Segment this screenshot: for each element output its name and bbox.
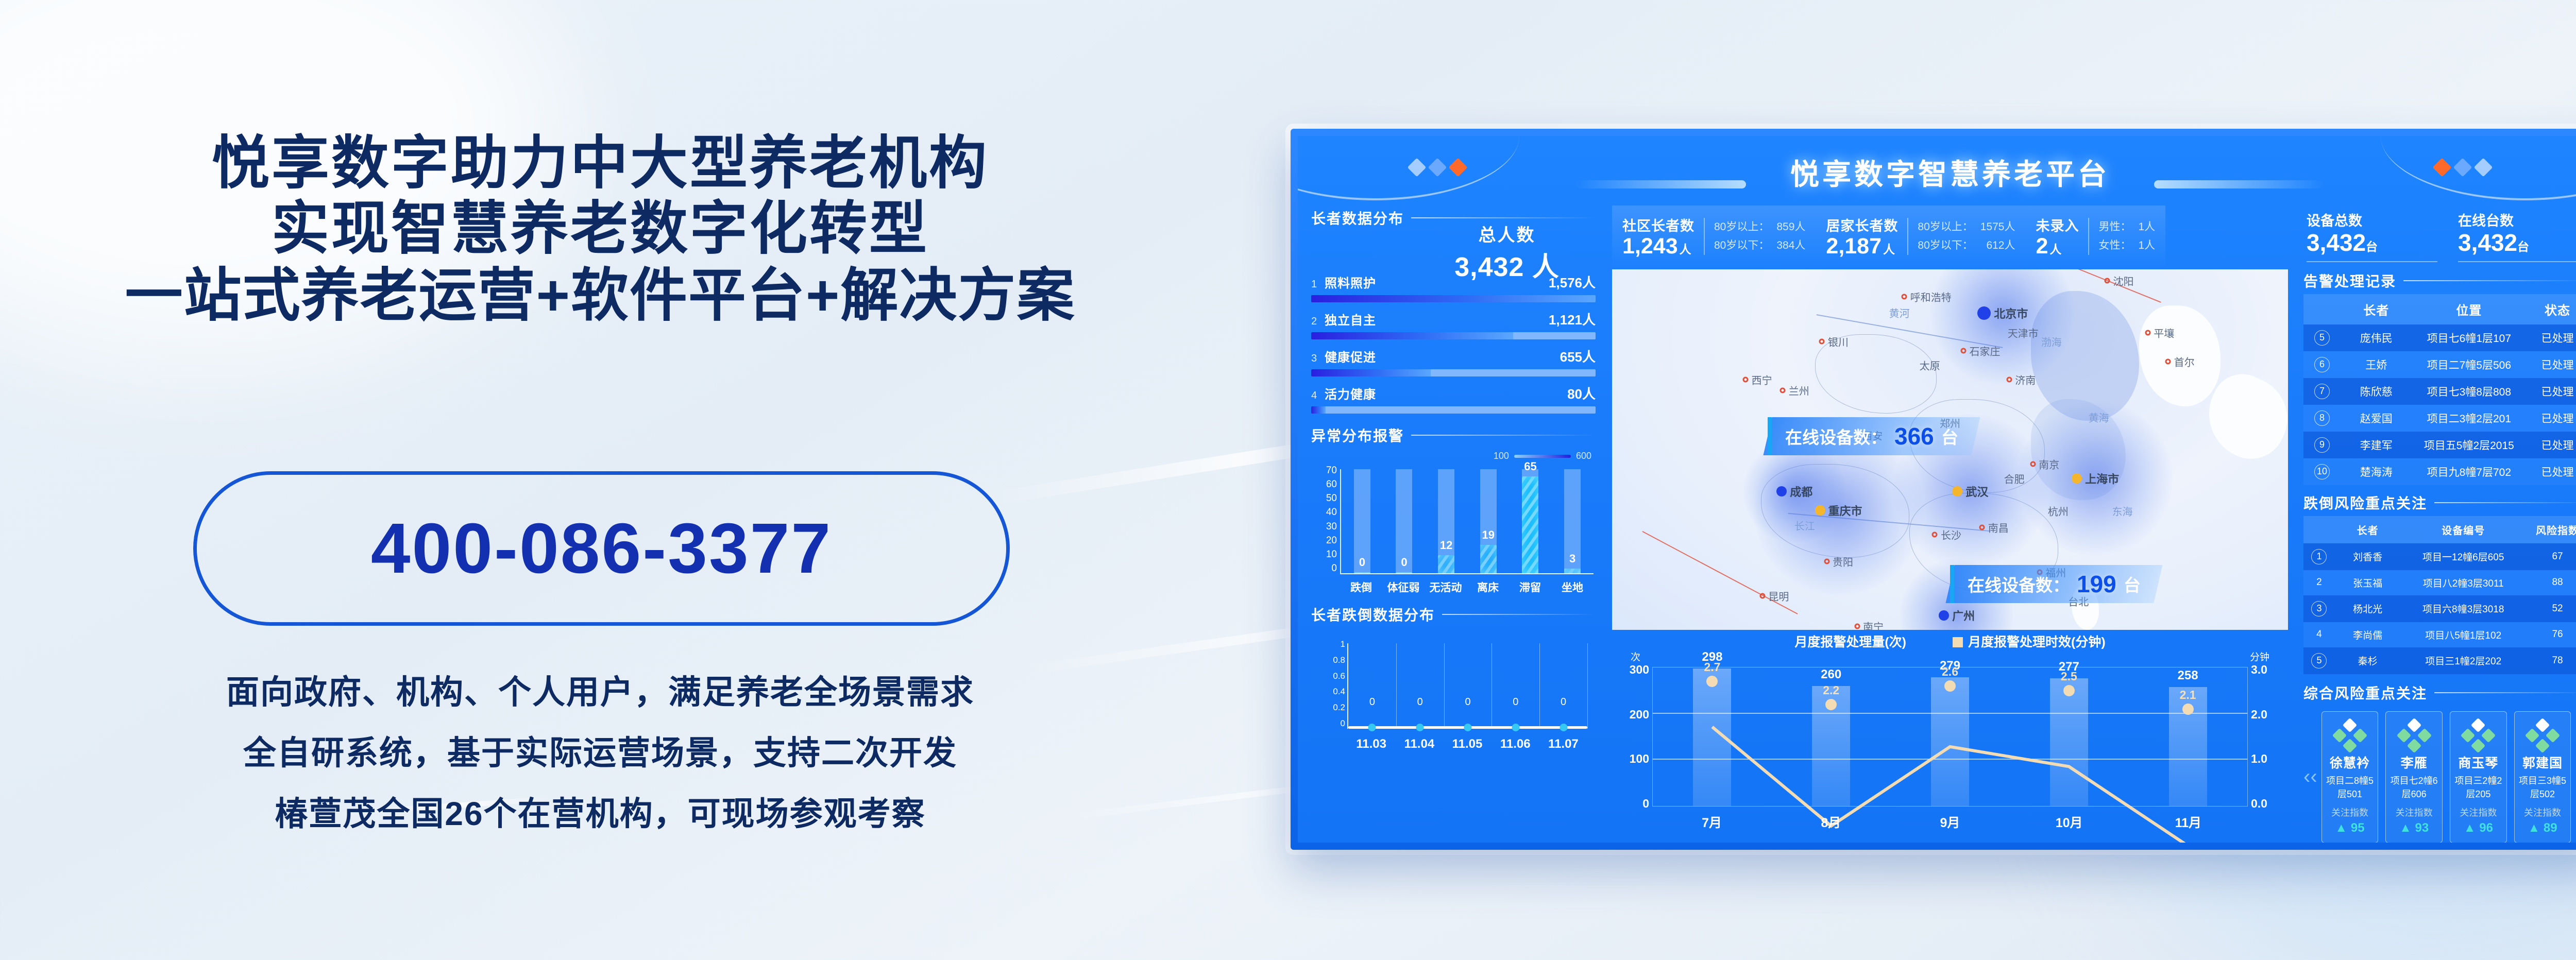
phone-number: 400-086-3377 [371, 508, 832, 590]
cell-elder: 楚海涛 [2341, 458, 2412, 485]
marketing-column: 悦享数字助力中大型养老机构 实现智慧养老数字化转型 一站式养老运营+软件平台+解… [0, 0, 1206, 960]
stat-unit: 人 [1680, 243, 1691, 256]
headline-line-1: 悦享数字助力中大型养老机构 [0, 131, 1200, 195]
xtick: 11.03 [1347, 737, 1395, 751]
data-point[interactable] [2063, 685, 2075, 696]
map-city[interactable]: 呼和浩特 [1902, 289, 1952, 304]
alarm-records-table[interactable]: 长者 位置 状态 5庞伟民项目七6幢1层107已处理6王娇项目二7幢5层506已… [2303, 294, 2576, 485]
cell-elder: 李建军 [2341, 432, 2412, 458]
map-pin-icon [1780, 387, 1786, 393]
map-city[interactable]: 济南 [2006, 372, 2036, 387]
stat-unit: 人 [2049, 243, 2061, 256]
sub-key: 80岁以上： [1918, 218, 1973, 236]
device-stat-label: 在线台数 [2458, 210, 2576, 230]
risk-card-name: 商玉琴 [2452, 753, 2504, 772]
stat-label: 未录入 [2036, 215, 2079, 235]
risk-card[interactable]: 李雁项目七2幢6层606关注指数▲ 93 [2385, 711, 2443, 843]
col-risk-score: 风险指数 [2526, 516, 2576, 543]
monthly-plot-area: 2982602792772582.72.22.62.52.1 [1652, 667, 2248, 807]
ytick: 40 [1326, 507, 1337, 518]
xtick: 11.05 [1443, 737, 1491, 751]
map-city[interactable]: 北京市 [1977, 305, 2028, 321]
map-city[interactable]: 长江 [1794, 518, 1815, 533]
map-city-label: 长江 [1794, 518, 1815, 533]
map-city[interactable]: 昆明 [1759, 588, 1789, 603]
map-city[interactable]: 沈阳 [2105, 273, 2134, 288]
map-city[interactable]: 首尔 [2165, 354, 2195, 369]
data-point[interactable] [1825, 699, 1837, 710]
ytick: 200 [1630, 708, 1649, 722]
cell-index: 5 [2303, 324, 2341, 351]
table-row[interactable]: 5庞伟民项目七6幢1层107已处理 [2303, 324, 2576, 351]
stat-value: 1,243 [1622, 234, 1678, 259]
map-city-label: 呼和浩特 [1910, 289, 1952, 304]
legend-swatch-icon [1953, 637, 1963, 647]
cell-elder: 李尚儒 [2335, 622, 2400, 647]
map-pin-icon [2165, 358, 2171, 364]
table-row[interactable]: 8赵爱国项目二3幢2层201已处理 [2303, 405, 2576, 432]
map-online-device-badge[interactable]: 在线设备数：366台 [1763, 417, 1980, 455]
device-stat-unit: 台 [2517, 240, 2529, 253]
risk-card-location: 项目三3幢5层502 [2517, 774, 2569, 800]
cell-index: 7 [2303, 378, 2341, 405]
fall-distribution-chart: 1 0.8 0.6 0.4 0.2 0 00000 11.03 11.0 [1311, 627, 1596, 756]
monthly-x-ticks: 7月 8月 9月 10月 11月 [1652, 813, 2248, 831]
risk-card-score-label: 关注指数 [2324, 805, 2376, 819]
ytick: 3.0 [2251, 663, 2267, 677]
fall-distribution-panel: 长者跌倒数据分布 1 0.8 0.6 0.4 0.2 0 00000 [1311, 604, 1596, 756]
abnormal-bar-column[interactable]: 12 [1436, 469, 1456, 573]
dashboard-body: 长者数据分布 总人数 3,432 人 1 照料照护 1,576人 [1298, 200, 2576, 843]
map-city-label: 石家庄 [1970, 343, 2001, 358]
sub-key: 女性： [2098, 236, 2131, 255]
abnormal-bar-column[interactable]: 3 [1562, 469, 1583, 573]
map-city-label: 成都 [1790, 483, 1812, 500]
fall-risk-table[interactable]: 长者 设备编号 风险指数 1刘香香项目一12幢6层605672张玉福项目八2幢3… [2303, 516, 2576, 674]
stat-unregistered[interactable]: 未录入 2人 男性：1人 女性：1人 [2025, 205, 2165, 267]
sub-val: 859人 [1776, 218, 1805, 236]
abnormal-bar-column[interactable]: 65 [1520, 469, 1540, 573]
map-water-label: 黄河 [1889, 305, 1910, 320]
data-label: 2.5 [2061, 670, 2077, 683]
map-water-label: 东海 [2112, 504, 2133, 519]
stat-unit: 人 [1883, 243, 1895, 256]
abnormal-bar-column[interactable]: 19 [1478, 469, 1499, 573]
map-city-label: 长沙 [1941, 527, 1961, 542]
dashboard-title: 悦享数字智慧养老平台 [1298, 151, 2576, 193]
map-pin-icon [2145, 330, 2150, 335]
map-hub-dot-icon [1977, 306, 1991, 320]
map-city-label: 合肥 [2004, 471, 2025, 486]
legend-min: 100 [1494, 451, 1509, 461]
cell-device-id: 项目一12幢6层605 [2400, 543, 2526, 570]
monthly-right-ticks: 3.0 2.0 1.0 0.0 [2251, 663, 2282, 811]
map-city[interactable]: 武汉 [1952, 483, 1988, 500]
map-city[interactable]: 银川 [1819, 334, 1849, 349]
map-pin-icon [1902, 294, 1907, 299]
stat-label: 居家长者数 [1826, 215, 1898, 235]
data-label: 2.6 [1942, 665, 1958, 679]
monthly-left-ticks: 300 200 100 0 [1618, 663, 1649, 811]
dist-bar-track [1311, 369, 1596, 376]
stat-online-devices[interactable]: 在线台数 3,432台 [2458, 210, 2576, 262]
legend-item-efficiency: 月度报警处理时效(分钟) [1953, 632, 2106, 650]
map-city[interactable]: 兰州 [1780, 383, 1809, 398]
fall-x-ticks: 11.03 11.04 11.05 11.06 11.07 [1347, 737, 1587, 751]
cell-location: 项目二3幢2层201 [2412, 405, 2527, 432]
map-city[interactable]: 石家庄 [1961, 343, 2001, 358]
map-badge-unit: 台 [2124, 572, 2141, 596]
monthly-right-unit: 分钟 [2250, 649, 2269, 663]
risk-card-name: 李雁 [2388, 753, 2440, 772]
stat-home-elders[interactable]: 居家长者数 2,187人 80岁以上：1575人 80岁以下：612人 [1816, 205, 2025, 267]
sub-val: 1人 [2138, 236, 2155, 255]
dist-index: 3 [1311, 353, 1325, 365]
fall-plot-area: 00000 [1347, 643, 1587, 729]
ytick: 0.2 [1333, 702, 1345, 713]
map-city-label: 平壤 [2154, 325, 2174, 340]
risk-card-location: 项目七2幢6层606 [2388, 774, 2440, 800]
map-city[interactable]: 南昌 [1979, 520, 2009, 535]
dashboard-header: 悦享数字智慧养老平台 [1298, 136, 2576, 200]
dist-value: 1,121人 [1549, 310, 1596, 329]
map-badge-value: 366 [1894, 422, 1934, 450]
map-city-label: 沈阳 [2113, 273, 2134, 288]
monthly-left-unit: 次 [1631, 649, 1640, 663]
data-point[interactable] [1944, 680, 1956, 692]
risk-card-score-label: 关注指数 [2388, 805, 2440, 819]
stat-total-devices[interactable]: 设备总数 3,432台 [2307, 210, 2437, 262]
cell-index: 8 [2303, 405, 2341, 432]
data-point[interactable] [1368, 724, 1376, 731]
map-city-label: 上海市 [2085, 470, 2119, 487]
sub-val: 1575人 [1980, 218, 2015, 236]
table-row[interactable]: 7陈欣慈项目七3幢8层808已处理 [2303, 378, 2576, 405]
map-city-label: 广州 [1952, 607, 1975, 624]
dist-name: 独立自主 [1325, 310, 1376, 328]
map-pin-icon [2006, 376, 2012, 382]
xtick: 11.04 [1395, 737, 1443, 751]
stats-strip: 社区长者数 1,243人 80岁以上：859人 80岁以下：384人 居家长者数… [1610, 205, 2290, 267]
dist-index: 1 [1311, 279, 1325, 290]
monthly-legend: 月度报警处理量(次) 月度报警处理时效(分钟) [1613, 632, 2287, 650]
risk-card-score-label: 关注指数 [2452, 805, 2504, 819]
data-label: 0 [1561, 696, 1566, 708]
sub-key: 80岁以下： [1918, 236, 1973, 255]
map-pin-icon [1743, 376, 1749, 382]
cell-location: 项目七6幢1层107 [2412, 324, 2527, 351]
data-point[interactable] [1560, 724, 1567, 731]
map-device-dot-icon [1815, 505, 1825, 516]
benefit-list: 面向政府、机构、个人用户，满足养老全场景需求 全自研系统，基于实际运营场景，支持… [0, 662, 1200, 844]
map-city-label: 太原 [1920, 357, 1940, 372]
stat-sub-list: 80岁以上：859人 80岁以下：384人 [1704, 218, 1805, 254]
fall-risk-title: 跌倒风险重点关注 [2303, 492, 2576, 513]
data-label: 0 [1465, 696, 1470, 708]
benefit-item-2: 全自研系统，基于实际运营场景，支持二次开发 [0, 723, 1200, 783]
data-point[interactable] [1706, 676, 1718, 687]
stat-label: 社区长者数 [1622, 215, 1694, 235]
total-elders-label: 总人数 [1430, 221, 1584, 246]
dist-bar-track [1311, 332, 1596, 339]
xtick: 滞留 [1510, 579, 1551, 595]
data-point[interactable] [1464, 724, 1472, 731]
stat-sub-list: 80岁以上：1575人 80岁以下：612人 [1907, 218, 2015, 254]
map-pin-icon [1932, 532, 1938, 537]
cell-device-id: 项目三1幢2层202 [2400, 647, 2526, 674]
xtick: 坐地 [1552, 579, 1593, 595]
map-city[interactable]: 广州 [1939, 607, 1975, 624]
data-label: 0 [1369, 696, 1375, 708]
map-device-dot-icon [1952, 486, 1962, 496]
headline-line-3: 一站式养老运营+软件平台+解决方案 [0, 262, 1200, 329]
device-stat-value: 3,432 [2458, 229, 2517, 256]
ytick: 0.6 [1333, 671, 1345, 681]
dashboard-device-mockup: 悦享数字智慧养老平台 长者数据分布 总人数 3,432 人 1 照料照护 [1291, 129, 2576, 850]
benefit-item-1: 面向政府、机构、个人用户，满足养老全场景需求 [0, 662, 1200, 723]
data-point[interactable] [1512, 724, 1519, 731]
map-pin-icon [1824, 559, 1829, 564]
risk-card[interactable]: 徐慧衿项目二8幢5层501关注指数▲ 95 [2321, 711, 2379, 843]
gridline [1396, 643, 1397, 729]
fall-distribution-title: 长者跌倒数据分布 [1311, 604, 1596, 625]
map-city[interactable]: 南宁 [1854, 619, 1884, 630]
ytick: 20 [1326, 535, 1337, 546]
map-city-label: 首尔 [2174, 354, 2195, 369]
ytick: 0.0 [2251, 797, 2267, 811]
map-pin-icon [1979, 524, 1985, 530]
elder-distribution-list: 1 照料照护 1,576人 2 独立自主 1,121人 [1311, 272, 1596, 414]
overall-risk-title: 综合风险重点关注 [2303, 682, 2576, 703]
data-label: 0 [1417, 696, 1423, 708]
sub-key: 80岁以下： [1714, 236, 1769, 255]
overall-risk-carousel: ‹‹ 徐慧衿项目二8幢5层501关注指数▲ 95李雁项目七2幢6层606关注指数… [2303, 711, 2576, 843]
data-point[interactable] [1416, 724, 1424, 731]
data-point[interactable] [2182, 704, 2194, 715]
ytick: 0 [1642, 797, 1649, 811]
abnormal-bar-column[interactable]: 0 [1394, 469, 1414, 573]
risk-card[interactable]: 郭建国项目三3幢5层502关注指数▲ 89 [2514, 711, 2571, 843]
risk-card[interactable]: 商玉琴项目三2幢2层205关注指数▲ 96 [2450, 711, 2507, 843]
ytick: 100 [1630, 752, 1649, 766]
map-city[interactable]: 上海市 [2072, 470, 2119, 487]
cell-device-id: 项目八2幢3层3011 [2400, 570, 2526, 595]
table-row[interactable]: 5秦杉项目三1幢2层20278 [2303, 647, 2576, 674]
xtick: 体征弱 [1383, 579, 1424, 595]
xtick: 7月 [1693, 813, 1731, 831]
cell-elder: 张玉福 [2335, 570, 2400, 595]
cell-risk-score: 52 [2526, 595, 2576, 622]
cell-elder: 王娇 [2341, 351, 2412, 378]
map-city[interactable]: 西宁 [1743, 372, 1772, 387]
ytick: 30 [1326, 521, 1337, 533]
cell-status: 已处理 [2526, 405, 2576, 432]
risk-card-score: ▲ 93 [2388, 821, 2440, 835]
map-online-device-badge[interactable]: 在线设备数：199台 [1945, 565, 2162, 603]
map-city[interactable]: 长沙 [1932, 527, 1961, 542]
map-pin-icon [2030, 461, 2036, 467]
legend-gradient-icon [1514, 455, 1571, 458]
total-elders-value: 3,432 人 [1430, 245, 1584, 284]
risk-card-score: ▲ 95 [2324, 821, 2376, 835]
abnormal-alarm-panel: 异常分布报警 100 600 70 60 50 40 30 [1311, 425, 1596, 600]
ytick: 300 [1630, 663, 1649, 677]
cell-location: 项目二7幢5层506 [2412, 351, 2527, 378]
dist-bar-track [1311, 295, 1596, 302]
dashboard-right-column: 设备总数 3,432台 在线台数 3,432台 告警处理记录 长者 位置 [2293, 200, 2576, 843]
xtick: 无活动 [1425, 579, 1466, 595]
map-city-label: 南宁 [1863, 619, 1884, 630]
sub-key: 男性： [2098, 218, 2131, 236]
ytick: 0.4 [1333, 687, 1345, 697]
map-city[interactable]: 南京 [2030, 457, 2059, 472]
cell-index: 9 [2303, 432, 2341, 458]
total-elders-block: 总人数 3,432 人 [1430, 221, 1584, 284]
legend-item-volume: 月度报警处理量(次) [1794, 632, 1906, 650]
col-elder: 长者 [2341, 294, 2412, 324]
dist-name: 照料照护 [1325, 273, 1376, 291]
gridline [1539, 643, 1540, 729]
table-row[interactable]: 10楚海涛项目九8幢7层702已处理 [2303, 458, 2576, 485]
sub-key: 80岁以上： [1714, 218, 1769, 236]
device-stat-unit: 台 [2366, 240, 2378, 253]
risk-card-name: 郭建国 [2517, 753, 2569, 772]
map-city[interactable]: 贵阳 [1824, 554, 1853, 569]
map-device-dot-icon [2072, 473, 2082, 484]
ytick: 10 [1326, 549, 1337, 560]
cell-status: 已处理 [2526, 378, 2576, 405]
table-row[interactable]: 9李建军项目五5幢2层2015已处理 [2303, 432, 2576, 458]
map-badge-label: 在线设备数： [1968, 572, 2070, 596]
table-row[interactable]: 2张玉福项目八2幢3层301188 [2303, 570, 2576, 595]
map-water-label: 渤海 [2041, 334, 2062, 349]
ytick: 0 [1341, 718, 1345, 729]
map-city-label: 天津市 [2008, 325, 2039, 340]
map-hub-dot-icon [1776, 486, 1787, 496]
dashboard-left-column: 长者数据分布 总人数 3,432 人 1 照料照护 1,576人 [1298, 200, 1607, 843]
map-city-label: 贵阳 [1833, 554, 1853, 569]
data-label: 2.7 [1704, 660, 1720, 674]
map-pin-icon [1759, 593, 1765, 598]
map-city[interactable]: 成都 [1776, 483, 1812, 500]
map-city-label: 重庆市 [1828, 502, 1862, 519]
stat-value: 2 [2036, 234, 2048, 259]
ytick: 50 [1326, 493, 1337, 504]
gridline [1587, 643, 1588, 729]
dist-bar-track [1311, 406, 1596, 414]
cell-elder: 秦杉 [2335, 647, 2400, 674]
table-row[interactable]: 3杨北光项目六8幢3层301852 [2303, 595, 2576, 622]
ytick: 60 [1326, 479, 1337, 490]
map-city[interactable]: 太原 [1920, 357, 1940, 372]
ytick: 0.8 [1333, 655, 1345, 665]
list-item[interactable]: 2 独立自主 1,121人 [1311, 310, 1596, 339]
map-city[interactable]: 重庆市 [1815, 502, 1862, 519]
map-city[interactable]: 平壤 [2145, 325, 2174, 340]
carousel-prev-icon[interactable]: ‹‹ [2303, 765, 2317, 788]
data-label: 0 [1513, 696, 1518, 708]
map-city-label: 北京市 [1994, 305, 2028, 321]
cell-location: 项目九8幢7层702 [2412, 458, 2527, 485]
map-badge-unit: 台 [1941, 424, 1958, 449]
cell-index: 6 [2303, 351, 2341, 378]
list-item[interactable]: 4 活力健康 80人 [1311, 384, 1596, 414]
cell-elder: 杨北光 [2335, 595, 2400, 622]
col-index [2303, 516, 2335, 543]
cell-risk-score: 67 [2526, 543, 2576, 570]
ytick: 1 [1341, 639, 1345, 649]
data-label: 2.2 [1823, 683, 1839, 697]
risk-card-location: 项目三2幢2层205 [2452, 774, 2504, 800]
device-stat-label: 设备总数 [2307, 210, 2437, 230]
ytick: 1.0 [2251, 752, 2267, 766]
cell-index: 4 [2303, 622, 2335, 647]
xtick: 10月 [2050, 813, 2088, 831]
headline-line-2: 实现智慧养老数字化转型 [0, 195, 1200, 262]
cell-device-id: 项目八5幢1层102 [2400, 622, 2526, 647]
phone-cta-button[interactable]: 400-086-3377 [193, 471, 1010, 626]
table-row[interactable]: 1刘香香项目一12幢6层60567 [2303, 543, 2576, 570]
cell-risk-score: 76 [2526, 622, 2576, 647]
cell-elder: 庞伟民 [2341, 324, 2412, 351]
cell-index: 3 [2303, 595, 2335, 622]
dashboard-center-column: 社区长者数 1,243人 80岁以上：859人 80岁以下：384人 居家长者数… [1607, 200, 2293, 843]
benefit-item-3: 椿萱茂全国26个在营机构，可现场参观考察 [0, 783, 1200, 844]
gridline [1492, 643, 1492, 729]
list-item[interactable]: 3 健康促进 655人 [1311, 347, 1596, 376]
map-pin-icon [1854, 624, 1860, 629]
map-city[interactable]: 杭州 [2048, 504, 2069, 519]
dist-index: 4 [1311, 390, 1325, 402]
cell-index: 2 [2303, 570, 2335, 595]
sub-val: 612人 [1986, 236, 2015, 255]
cell-elder: 赵爱国 [2341, 405, 2412, 432]
stat-community-elders[interactable]: 社区长者数 1,243人 80岁以上：859人 80岁以下：384人 [1612, 205, 1816, 267]
diamond-cluster-icon [2452, 719, 2504, 751]
map-city-label: 银川 [1828, 334, 1849, 349]
sub-val: 384人 [1776, 236, 1805, 255]
map-pin-icon [1819, 339, 1825, 345]
abnormal-bar-column[interactable]: 0 [1352, 469, 1372, 573]
table-row[interactable]: 6王娇项目二7幢5层506已处理 [2303, 351, 2576, 378]
map-hub-dot-icon [1939, 610, 1949, 621]
dist-name: 健康促进 [1325, 347, 1376, 365]
map-city-label: 兰州 [1789, 383, 1809, 398]
map-badge-label: 在线设备数： [1785, 424, 1887, 449]
cell-location: 项目五5幢2层2015 [2412, 432, 2527, 458]
xtick: 8月 [1812, 813, 1850, 831]
map-city[interactable]: 合肥 [2004, 471, 2025, 486]
map-city-label: 昆明 [1768, 588, 1789, 603]
cell-index: 10 [2303, 458, 2341, 485]
col-location: 位置 [2412, 294, 2527, 324]
sub-val: 1人 [2138, 218, 2155, 236]
map-city-label: 南昌 [1988, 520, 2009, 535]
risk-card-name: 徐慧衿 [2324, 753, 2376, 772]
map-city[interactable]: 天津市 [2008, 325, 2039, 340]
dist-value: 80人 [1567, 384, 1596, 403]
xtick: 11.07 [1539, 737, 1587, 751]
cell-status: 已处理 [2526, 324, 2576, 351]
map-city-label: 武汉 [1965, 483, 1988, 500]
table-row[interactable]: 4李尚儒项目八5幢1层10276 [2303, 622, 2576, 647]
risk-card-score: ▲ 89 [2517, 821, 2569, 835]
map-pin-icon [1961, 348, 1967, 353]
abnormal-legend: 100 600 [1494, 451, 1591, 461]
abnormal-x-ticks: 跌倒 体征弱 无活动 离床 滞留 坐地 [1340, 579, 1594, 595]
china-device-map[interactable]: 黄河渤海黄海东海呼和浩特沈阳北京市天津市平壤首尔银川石家庄太原济南西宁兰州郑州西… [1612, 269, 2288, 630]
stat-value: 2,187 [1826, 234, 1882, 259]
